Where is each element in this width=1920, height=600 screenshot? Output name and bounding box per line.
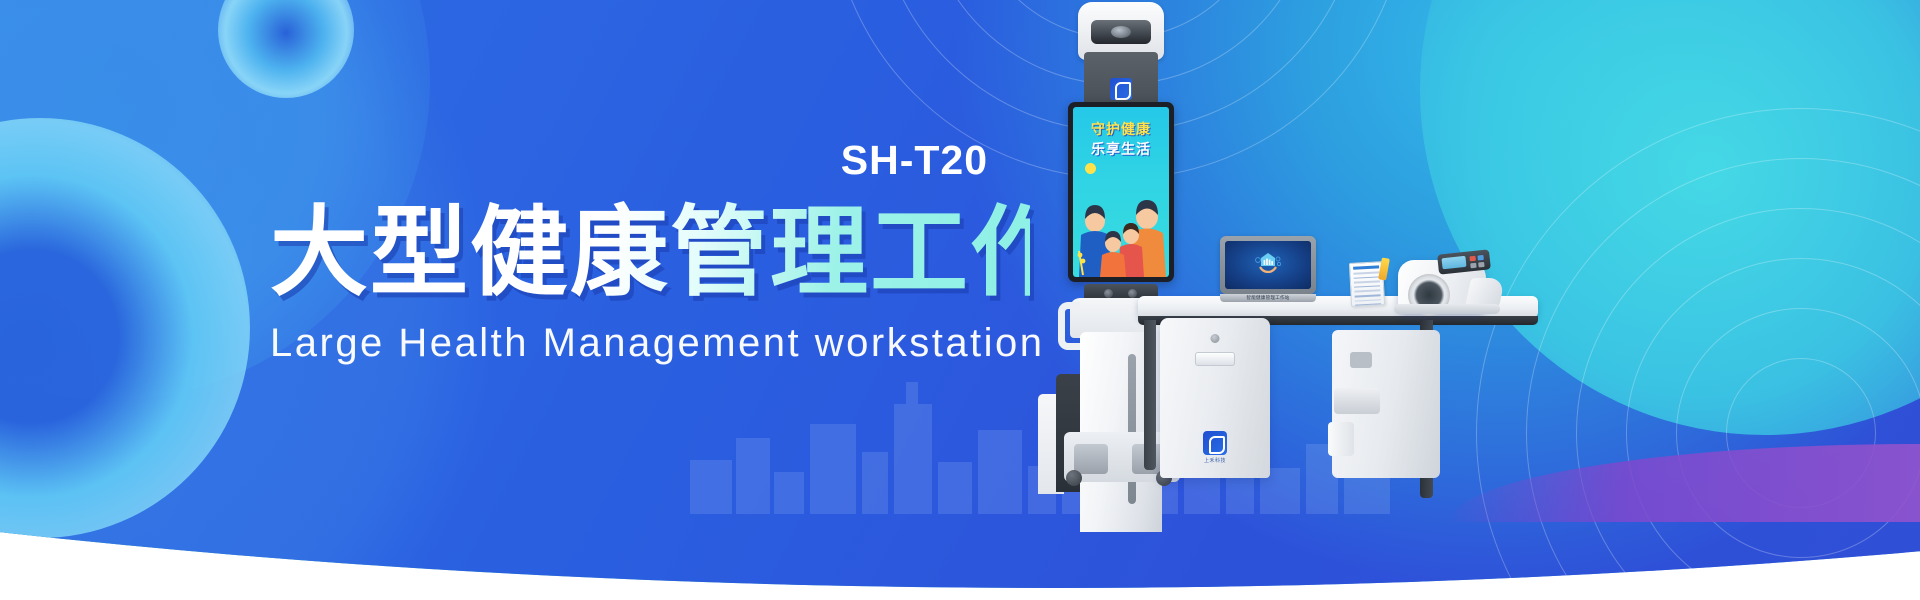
cabinet-notch: [1350, 352, 1372, 368]
bp-button-start[interactable]: [1469, 256, 1475, 262]
product-hero-banner: SH-T20 大型健康管理工作站 Large Health Management…: [0, 0, 1920, 600]
desk-cabinet-left[interactable]: 上禾科技: [1160, 318, 1270, 478]
blood-pressure-monitor-icon[interactable]: [1398, 252, 1508, 314]
company-logo-icon: 上禾科技: [1203, 431, 1227, 464]
logo-mark: [1203, 431, 1227, 455]
sun-icon: [1085, 163, 1096, 174]
banner-copy-block: SH-T20 大型健康管理工作站 Large Health Management…: [270, 140, 1030, 366]
bp-button-down[interactable]: [1478, 262, 1484, 268]
caster-wheel-left: [1066, 470, 1082, 486]
cabinet-brand-label: 上禾科技: [1203, 457, 1227, 464]
monitor-caption: 智能健康管理工作站: [1220, 294, 1316, 302]
paper-roll: [1328, 422, 1354, 456]
logo-mark: [1110, 78, 1132, 100]
bp-lcd-display: [1441, 256, 1466, 269]
cabinet-handle[interactable]: [1195, 352, 1235, 366]
printer-tray[interactable]: [1334, 388, 1380, 414]
bp-button-up[interactable]: [1470, 263, 1476, 269]
kiosk-handrail-left[interactable]: [1058, 302, 1080, 350]
kiosk-slogan-line2: 乐享生活: [1073, 139, 1169, 159]
bp-base: [1394, 304, 1500, 314]
monitor-screen[interactable]: [1225, 241, 1311, 289]
page-subtitle: Large Health Management workstation: [270, 321, 1030, 366]
page-title: 大型健康管理工作站: [270, 201, 1030, 305]
camera-lens-left: [1104, 289, 1113, 298]
monitor-bezel: [1220, 236, 1316, 294]
sensor-module: [1091, 20, 1151, 44]
kiosk-display-content: 守护健康 乐享生活: [1073, 107, 1169, 277]
desk-leg-left: [1144, 320, 1156, 470]
health-shield-hands-icon: [1255, 251, 1281, 273]
footpad-left: [1074, 444, 1108, 474]
bp-button-stop[interactable]: [1477, 255, 1483, 261]
family-illustration-icon: [1073, 181, 1169, 277]
kiosk-slogan-line1: 守护健康: [1073, 119, 1169, 139]
desk-cabinet-right[interactable]: [1332, 330, 1440, 478]
bokeh-circle-donut-left: [0, 118, 250, 538]
kiosk-display[interactable]: 守护健康 乐享生活: [1068, 102, 1174, 282]
camera-lens-right: [1128, 289, 1137, 298]
bokeh-circle-small-top: [218, 0, 354, 98]
workstation-monitor[interactable]: 智能健康管理工作站: [1220, 236, 1316, 302]
model-code: SH-T20: [270, 140, 1030, 181]
product-image-group: 上禾科技 SHANGHE TECH 守护健康 乐享生活: [1020, 0, 1920, 600]
cabinet-lock-icon: [1211, 334, 1220, 343]
